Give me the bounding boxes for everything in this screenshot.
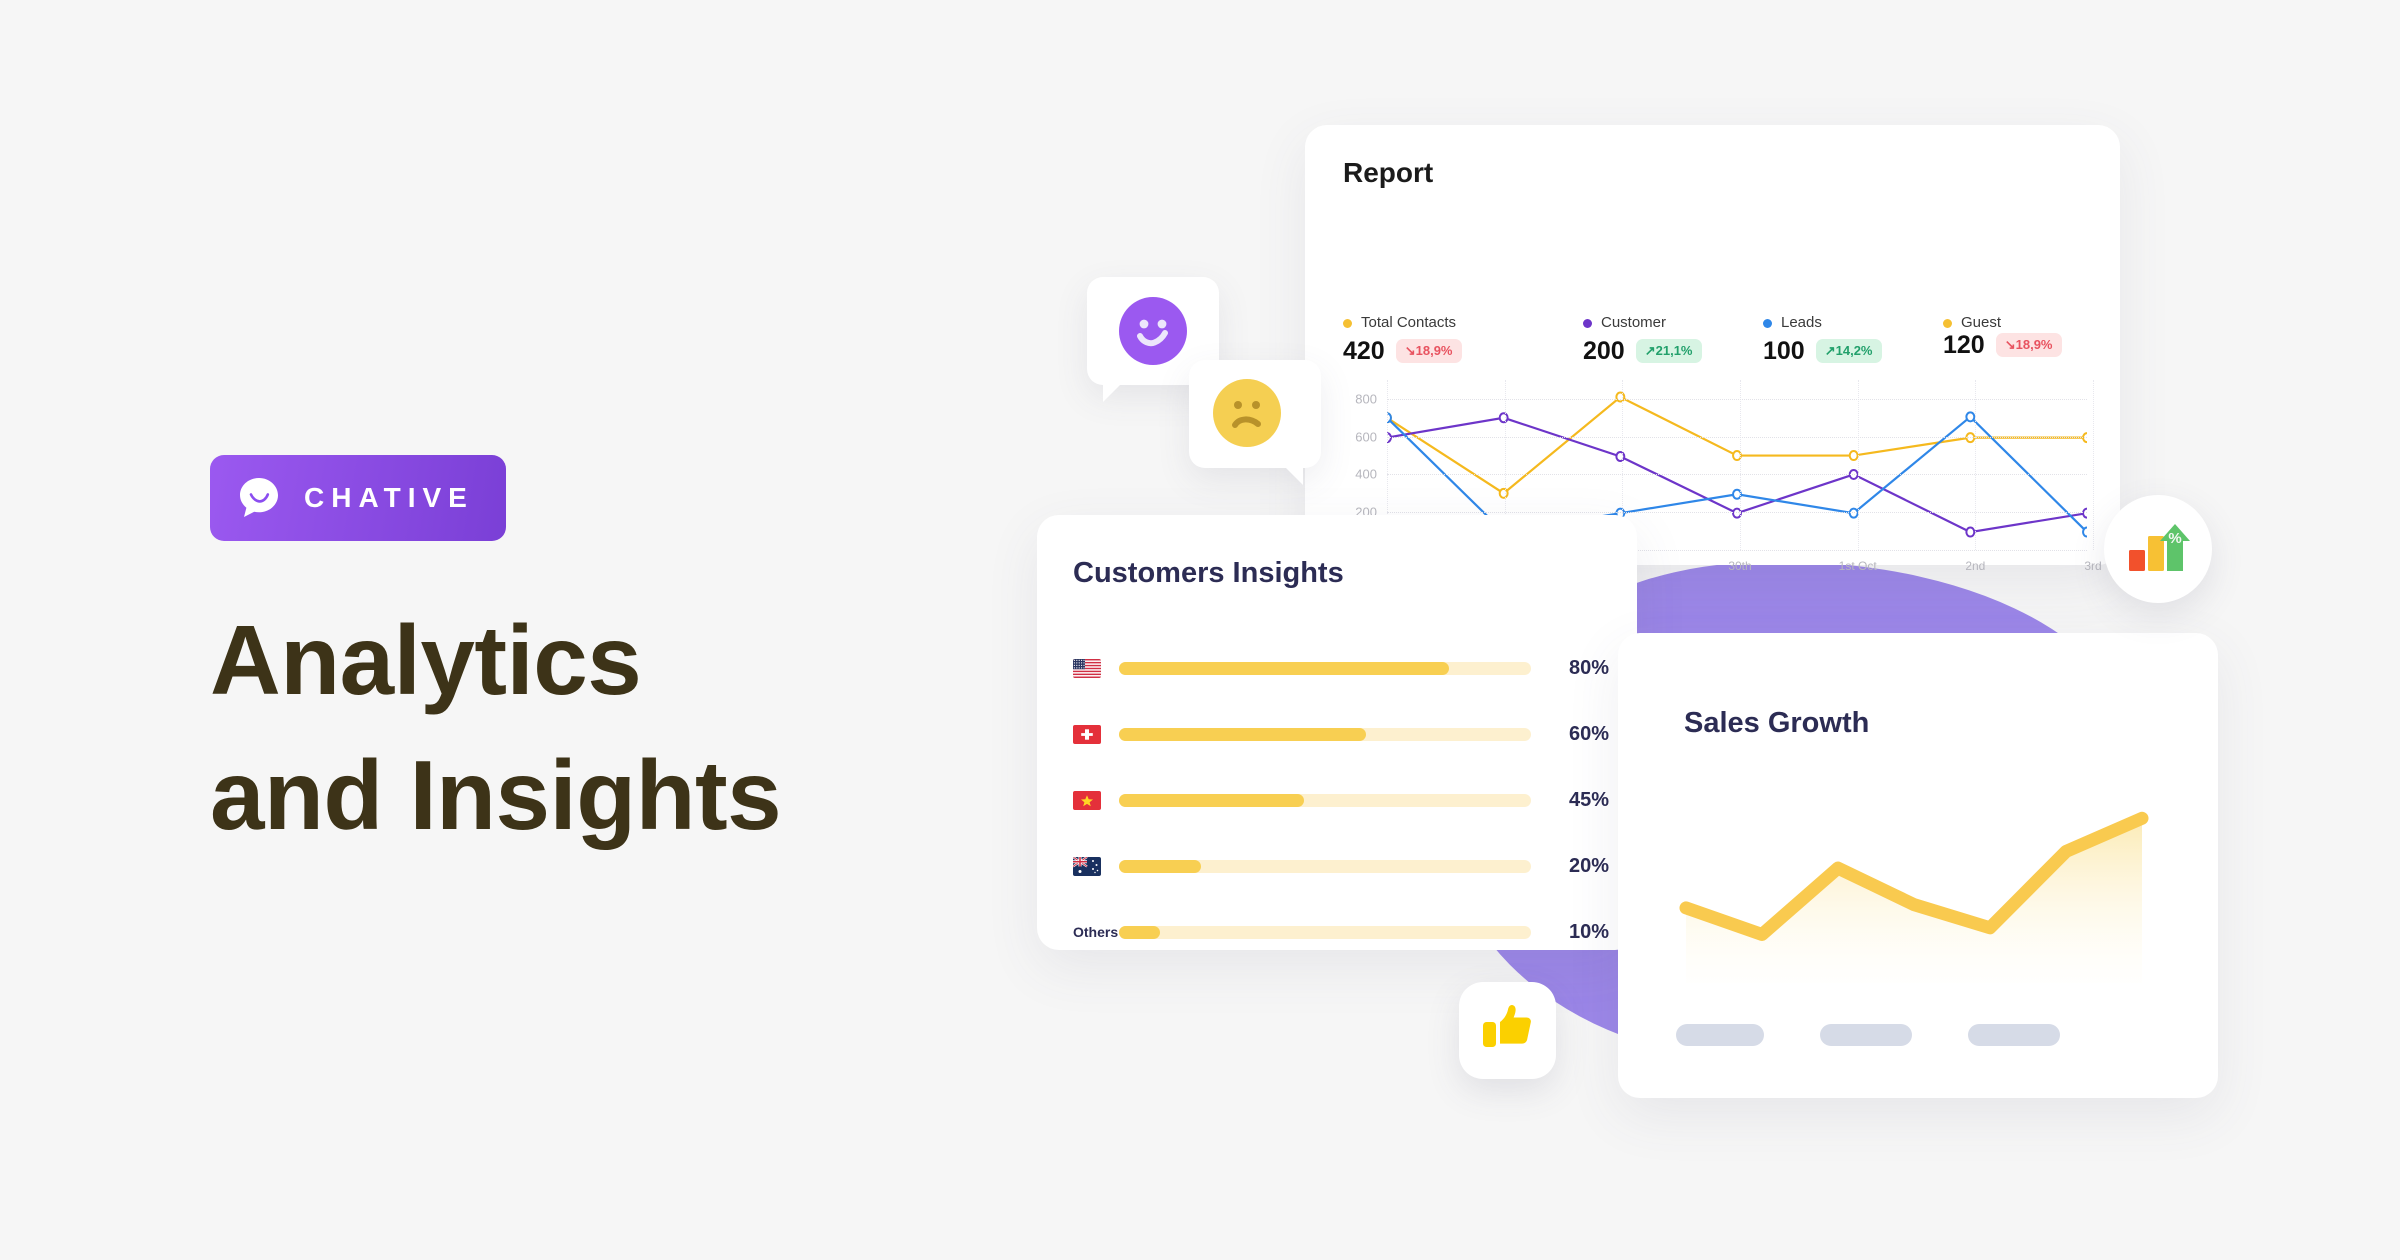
page-title: Analytics and Insights bbox=[210, 593, 970, 863]
legend-dot-leads bbox=[1763, 319, 1772, 328]
insights-row: Others10% bbox=[1073, 899, 1609, 965]
legend-dot-guest bbox=[1943, 319, 1952, 328]
x-axis-tick-label: 30th bbox=[1717, 558, 1763, 574]
insights-progress-track bbox=[1119, 926, 1531, 939]
kpi-guest[interactable]: Guest 120 ↘18,9% bbox=[1943, 315, 2062, 360]
chart-point[interactable] bbox=[1500, 489, 1508, 498]
kpi-value: 120 bbox=[1943, 331, 1985, 360]
kpi-label: Customer bbox=[1601, 315, 1666, 332]
insights-percent-value: 60% bbox=[1553, 723, 1609, 746]
insights-progress-fill bbox=[1119, 926, 1160, 939]
flag-vietnam-icon bbox=[1073, 791, 1101, 810]
insights-progress-fill bbox=[1119, 728, 1366, 741]
kpi-delta-value: 21,1% bbox=[1656, 343, 1693, 358]
placeholder-bar bbox=[1968, 1024, 2060, 1046]
chart-line-total-contacts bbox=[1387, 397, 2087, 493]
insights-progress-fill bbox=[1119, 794, 1304, 807]
sales-growth-area-chart bbox=[1674, 783, 2154, 983]
like-badge[interactable] bbox=[1459, 982, 1556, 1079]
flag-usa-icon bbox=[1073, 659, 1101, 678]
report-card: Report Total Contacts 420 ↘18,9% Custome bbox=[1305, 125, 2120, 565]
kpi-value: 100 bbox=[1763, 337, 1805, 366]
grid-line-horizontal bbox=[1387, 437, 2087, 438]
insights-progress-track bbox=[1119, 728, 1531, 741]
chat-bubble-smiley-icon bbox=[236, 475, 282, 521]
bubble-tail-happy bbox=[1103, 384, 1121, 402]
y-axis-tick-label: 600 bbox=[1355, 429, 1377, 444]
chart-point[interactable] bbox=[1966, 528, 1974, 537]
chart-point[interactable] bbox=[1850, 451, 1858, 460]
kpi-delta-badge: ↗14,2% bbox=[1816, 339, 1882, 363]
report-title: Report bbox=[1343, 157, 1433, 189]
insights-progress-track bbox=[1119, 794, 1531, 807]
kpi-value: 200 bbox=[1583, 337, 1625, 366]
grid-line-vertical bbox=[1740, 380, 1741, 550]
insights-progress-fill bbox=[1119, 662, 1449, 675]
thumbs-up-icon bbox=[1481, 1002, 1535, 1059]
chat-bubble-sad bbox=[1189, 360, 1321, 468]
bar-chart-growth-percent-icon: % bbox=[2126, 518, 2190, 581]
kpi-delta-badge: ↘18,9% bbox=[1996, 333, 2062, 357]
kpi-delta-arrow: ↗ bbox=[1825, 343, 1836, 358]
legend-dot-customer bbox=[1583, 319, 1592, 328]
flag-switzerland-icon bbox=[1073, 725, 1101, 744]
kpi-delta-arrow: ↗ bbox=[1645, 343, 1656, 358]
sales-chart-series bbox=[1674, 783, 2154, 983]
insights-row-label: Others bbox=[1073, 924, 1101, 940]
page-title-line-2: and Insights bbox=[210, 728, 970, 863]
x-axis-tick-label: 2nd bbox=[1952, 558, 1998, 574]
insights-progress-track bbox=[1119, 860, 1531, 873]
kpi-total-contacts[interactable]: Total Contacts 420 ↘18,9% bbox=[1343, 315, 1462, 366]
sad-face-icon bbox=[1213, 379, 1281, 447]
insights-progress-fill bbox=[1119, 860, 1201, 873]
grid-line-vertical bbox=[1858, 380, 1859, 550]
kpi-label: Total Contacts bbox=[1361, 315, 1456, 332]
illustration-canvas: CHATIVE Analytics and Insights Report To… bbox=[0, 0, 2400, 1260]
insights-row: 80% bbox=[1073, 635, 1609, 701]
kpi-delta-value: 18,9% bbox=[1416, 343, 1453, 358]
chart-point[interactable] bbox=[2083, 528, 2087, 537]
kpi-leads[interactable]: Leads 100 ↗14,2% bbox=[1763, 315, 1882, 366]
x-axis-tick-label: 1st Oct bbox=[1835, 558, 1881, 574]
happy-face-icon bbox=[1119, 297, 1187, 365]
legend-dot-total-contacts bbox=[1343, 319, 1352, 328]
sales-growth-title: Sales Growth bbox=[1684, 707, 1869, 740]
flag-australia-icon bbox=[1073, 857, 1101, 876]
kpi-delta-arrow: ↘ bbox=[2005, 337, 2016, 352]
sales-growth-card: Sales Growth bbox=[1618, 633, 2218, 1098]
insights-row-list: 80% 60% 45% 20%Others10% bbox=[1073, 635, 1609, 965]
insights-percent-value: 45% bbox=[1553, 789, 1609, 812]
chart-point[interactable] bbox=[1500, 413, 1508, 422]
insights-percent-value: 10% bbox=[1553, 921, 1609, 944]
placeholder-bar bbox=[1676, 1024, 1764, 1046]
hero-block: CHATIVE Analytics and Insights bbox=[210, 455, 970, 863]
kpi-delta-badge: ↗21,1% bbox=[1636, 339, 1702, 363]
insights-row: 20% bbox=[1073, 833, 1609, 899]
insights-title: Customers Insights bbox=[1073, 557, 1344, 590]
kpi-delta-value: 18,9% bbox=[2016, 337, 2053, 352]
placeholder-bar bbox=[1820, 1024, 1912, 1046]
insights-row: 60% bbox=[1073, 701, 1609, 767]
grid-line-vertical bbox=[1975, 380, 1976, 550]
insights-row: 45% bbox=[1073, 767, 1609, 833]
grid-line-vertical bbox=[2093, 380, 2094, 550]
kpi-value: 420 bbox=[1343, 337, 1385, 366]
kpi-label: Leads bbox=[1781, 315, 1822, 332]
sales-growth-placeholders bbox=[1676, 1024, 2176, 1046]
kpi-delta-badge: ↘18,9% bbox=[1396, 339, 1462, 363]
kpi-delta-arrow: ↘ bbox=[1405, 343, 1416, 358]
insights-progress-track bbox=[1119, 662, 1531, 675]
page-title-line-1: Analytics bbox=[210, 605, 641, 715]
y-axis-tick-label: 400 bbox=[1355, 467, 1377, 482]
brand-logo-badge[interactable]: CHATIVE bbox=[210, 455, 506, 541]
chart-point[interactable] bbox=[1966, 412, 1974, 421]
y-axis-tick-label: 800 bbox=[1355, 391, 1377, 406]
svg-text:%: % bbox=[2168, 530, 2181, 547]
grid-line-horizontal bbox=[1387, 512, 2087, 513]
insights-percent-value: 80% bbox=[1553, 657, 1609, 680]
growth-badge[interactable]: % bbox=[2104, 495, 2212, 603]
insights-percent-value: 20% bbox=[1553, 855, 1609, 878]
bubble-tail-sad bbox=[1285, 467, 1303, 485]
kpi-customer[interactable]: Customer 200 ↗21,1% bbox=[1583, 315, 1702, 366]
brand-name: CHATIVE bbox=[304, 482, 474, 514]
kpi-delta-value: 14,2% bbox=[1836, 343, 1873, 358]
grid-line-horizontal bbox=[1387, 474, 2087, 475]
kpi-label: Guest bbox=[1961, 315, 1999, 332]
grid-line-horizontal bbox=[1387, 399, 2087, 400]
customers-insights-card: Customers Insights 80% 60% 45% 20%Others… bbox=[1037, 515, 1637, 950]
